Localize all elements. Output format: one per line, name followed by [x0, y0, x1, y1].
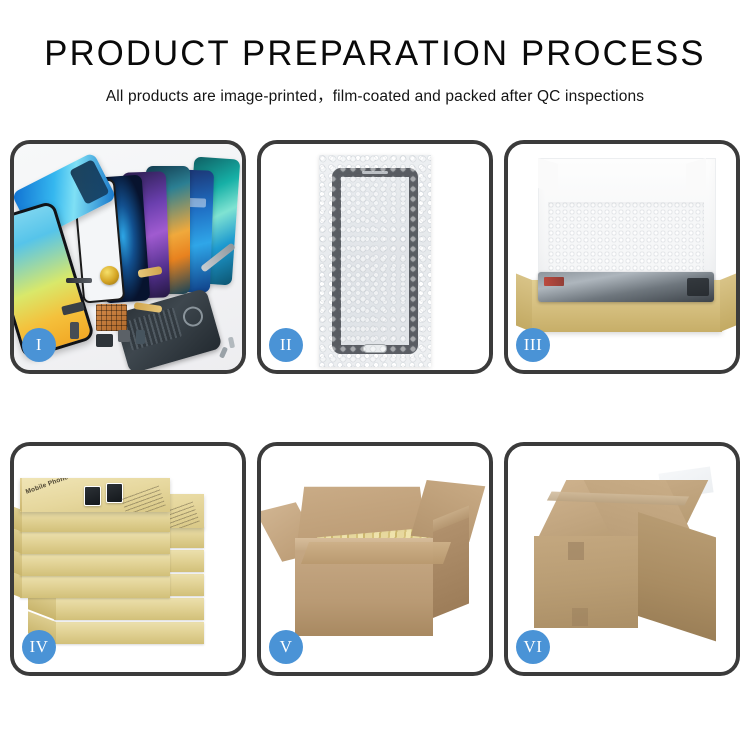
kraft-box-layer — [20, 554, 170, 576]
step-badge-4: IV — [22, 630, 56, 664]
connector-part-5 — [136, 330, 145, 344]
page-subtitle: All products are image-printed，film-coat… — [0, 84, 750, 106]
box-lid-flap-right — [686, 158, 706, 194]
page-title: PRODUCT PREPARATION PROCESS — [4, 34, 747, 74]
process-step-grid: I II — [10, 140, 740, 676]
bubble-wrap-sheet — [319, 155, 431, 367]
carton-handle-tab-top — [568, 542, 584, 560]
kraft-box-layer — [54, 622, 204, 644]
connector-part-3 — [96, 334, 113, 347]
carton-flap-front — [301, 542, 451, 564]
kraft-box-layer — [20, 532, 170, 554]
process-step-panel-5[interactable]: V — [257, 442, 493, 676]
process-step-panel-4[interactable]: Mobile Phone Spare Parts Mobile Phone Sp… — [10, 442, 246, 676]
carton-handle-tab-bottom — [572, 608, 588, 626]
carton-right-face — [638, 512, 716, 641]
screw-part-1 — [219, 346, 228, 358]
process-step-panel-3[interactable]: III — [504, 140, 740, 374]
step-badge-5: V — [269, 630, 303, 664]
connector-bar-part — [66, 278, 92, 283]
carton-side-face — [433, 517, 469, 618]
box-spec-lines — [121, 485, 166, 512]
step-badge-6: VI — [516, 630, 550, 664]
box-window-screen-1 — [84, 486, 101, 506]
process-step-panel-6[interactable]: VI — [504, 442, 740, 676]
step-badge-2: II — [269, 328, 303, 362]
packed-screen-item — [538, 272, 714, 302]
connector-part-4 — [118, 330, 130, 342]
step-badge-3: III — [516, 328, 550, 362]
kraft-box-layer — [54, 598, 204, 620]
screw-part-2 — [228, 337, 235, 349]
kraft-box-printed-lid: Mobile Phone Spare Parts — [20, 478, 170, 512]
coil-part-icon — [100, 266, 119, 285]
kraft-box-layer — [20, 510, 170, 532]
bubble-texture-overlay — [319, 155, 431, 367]
page-header: PRODUCT PREPARATION PROCESS All products… — [0, 0, 750, 106]
step-badge-1: I — [22, 328, 56, 362]
kraft-box-layer — [20, 576, 170, 598]
process-step-panel-1[interactable]: I — [10, 140, 246, 374]
copper-grid-part — [96, 304, 127, 331]
process-step-panel-2[interactable]: II — [257, 140, 493, 374]
connector-part-2 — [70, 322, 79, 339]
box-lid-flap-left — [538, 158, 558, 194]
